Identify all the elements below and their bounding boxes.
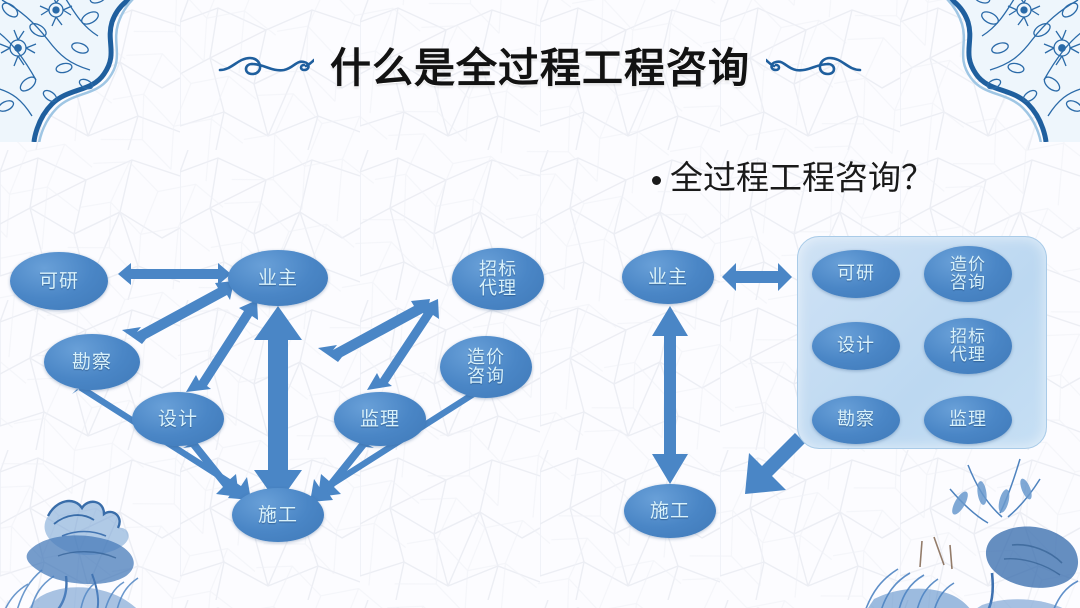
box-node-keyan[interactable]: 可研 bbox=[812, 250, 900, 298]
box-node-sheji-label: 设计 bbox=[837, 336, 875, 355]
box-node-zaojia-zixun-label-line1: 造价 bbox=[950, 256, 986, 274]
box-node-zhaobiao-daili[interactable]: 招标 代理 bbox=[924, 318, 1012, 374]
box-node-zaojia-zixun[interactable]: 造价 咨询 bbox=[924, 246, 1012, 302]
node-yezhu-right-label: 业主 bbox=[648, 267, 688, 288]
box-node-jianli-label: 监理 bbox=[949, 410, 987, 429]
box-node-zaojia-zixun-label-line2: 咨询 bbox=[950, 274, 986, 292]
box-node-kancha[interactable]: 勘察 bbox=[812, 396, 900, 444]
box-node-sheji[interactable]: 设计 bbox=[812, 322, 900, 370]
node-shigong-right[interactable]: 施工 bbox=[624, 484, 716, 538]
box-node-zhaobiao-daili-label-line2: 代理 bbox=[950, 346, 986, 364]
slide-canvas: 什么是全过程工程咨询 全过程工程咨询？ bbox=[0, 0, 1080, 608]
box-node-zhaobiao-daili-label-line1: 招标 bbox=[950, 328, 986, 346]
box-node-keyan-label: 可研 bbox=[837, 264, 875, 283]
box-node-kancha-label: 勘察 bbox=[837, 410, 875, 429]
box-node-jianli[interactable]: 监理 bbox=[924, 396, 1012, 444]
node-yezhu-right[interactable]: 业主 bbox=[622, 250, 714, 304]
node-shigong-right-label: 施工 bbox=[650, 501, 690, 522]
